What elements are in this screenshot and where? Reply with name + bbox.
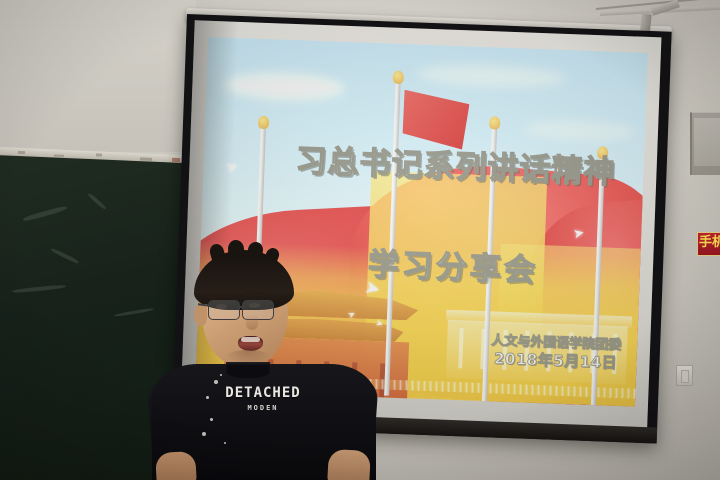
eyeglasses-bridge (238, 306, 244, 308)
wall-recess-panel-inner (694, 118, 720, 166)
slide-subtitle: 学习分享会 (367, 248, 538, 288)
presenter-arm-right (327, 449, 371, 480)
photo-scene: 手机 (0, 0, 720, 480)
wall-upper-left (0, 0, 196, 152)
presenter-collar (226, 362, 270, 378)
light-switch-plate[interactable] (676, 365, 693, 386)
presenter-arm-left (155, 451, 197, 480)
eyeglasses-left-lens (208, 300, 240, 320)
wall-notice-sign: 手机 (697, 232, 720, 256)
tshirt-text-sub: MODEN (208, 403, 318, 413)
tshirt-text-main: DETACHED (208, 386, 318, 401)
presenter: DETACHED MODEN (150, 246, 380, 480)
slide-credit-block: 人文与外国语学院团委 2018年5月14日 (490, 333, 621, 372)
tshirt-graphic: DETACHED MODEN (208, 386, 318, 413)
presenter-ear (194, 304, 207, 326)
wall-notice-sign-text: 手机 (699, 235, 720, 250)
presenter-teeth (241, 337, 260, 342)
dove-icon: ➤ (572, 226, 585, 241)
presenter-nose (246, 314, 258, 330)
